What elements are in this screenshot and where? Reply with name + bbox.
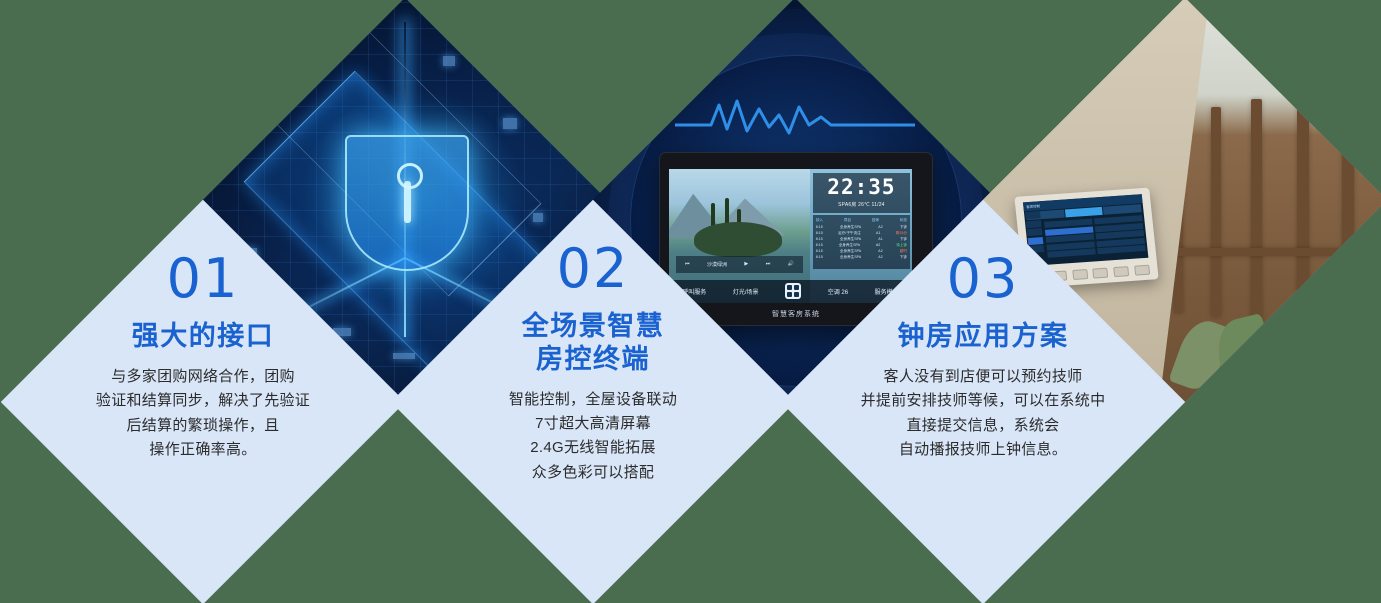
home-hub-icon[interactable] xyxy=(785,283,801,299)
panel-list-right[interactable] xyxy=(1094,215,1146,254)
mountain-shape-2 xyxy=(711,195,784,235)
card-title: 全场景智慧 房控终端 xyxy=(522,310,665,376)
desc-line: 后结算的繁琐操作，且 xyxy=(96,414,310,438)
tree-2 xyxy=(725,198,729,246)
cell-tech: A2 xyxy=(878,254,882,260)
clock-time: 22:35 xyxy=(827,177,895,198)
wood-slat-3 xyxy=(1251,99,1262,325)
desc-line: 与多家团购网络合作，团购 xyxy=(96,365,310,389)
card-title-line: 房控终端 xyxy=(522,343,665,376)
wood-slat-2 xyxy=(1211,107,1221,317)
desc-line: 直接提交信息，系统会 xyxy=(861,414,1106,438)
media-next-icon[interactable]: ⏭ xyxy=(766,261,771,267)
side-item-4[interactable] xyxy=(1028,236,1044,244)
side-item-1[interactable] xyxy=(1025,211,1041,219)
ecg-waveform-icon xyxy=(675,95,915,139)
tree-3 xyxy=(737,209,741,244)
desc-line: 2.4G无线智能拓展 xyxy=(509,436,677,460)
card-title: 强大的接口 xyxy=(132,320,275,353)
wood-slat-4 xyxy=(1297,95,1309,329)
toolbar-air-conditioner[interactable]: 空调 26 xyxy=(828,287,848,296)
panel-list-left[interactable] xyxy=(1044,218,1096,257)
card-number: 02 xyxy=(557,242,630,296)
toolbar-lighting[interactable]: 灯光/场景 xyxy=(733,287,759,296)
desc-line: 并提前安排技师等候，可以在系统中 xyxy=(861,389,1106,413)
desc-line: 自动播报技师上钟信息。 xyxy=(861,438,1106,462)
circuit-chip-7 xyxy=(393,353,415,359)
clock-widget: 22:35 SPA6房 26℃ 11/24 xyxy=(813,173,910,213)
panel-button-4[interactable] xyxy=(1093,267,1109,278)
card-number: 03 xyxy=(947,252,1020,306)
circuit-chip-3 xyxy=(503,118,517,129)
desc-line: 验证和结算同步，解决了先验证 xyxy=(96,389,310,413)
circuit-chip-6 xyxy=(443,56,455,66)
clock-room: SPA6房 xyxy=(838,202,856,208)
panel-button-6[interactable] xyxy=(1135,265,1151,276)
clock-date: 11/24 xyxy=(872,202,885,208)
side-item-2[interactable] xyxy=(1026,220,1042,228)
media-player-widget[interactable]: ⏮ 沙漠绿洲 ▶ ⏭ 🔊 xyxy=(676,256,802,273)
card-description: 智能控制，全屋设备联动 7寸超大高清屏幕 2.4G无线智能拓展 众多色彩可以搭配 xyxy=(509,388,677,485)
media-title: 沙漠绿洲 xyxy=(707,261,727,268)
desc-line: 操作正确率高。 xyxy=(96,438,310,462)
bottom-toolbar[interactable]: 呼叫服务 灯光/场景 空调 26 服务模式 xyxy=(669,280,912,303)
media-play-icon[interactable]: ▶ xyxy=(744,261,748,267)
shield-lock-icon xyxy=(345,135,469,271)
plant-leaf-3 xyxy=(1260,327,1317,398)
tree-1 xyxy=(711,203,715,246)
cell-status: 下钟 xyxy=(900,254,907,260)
circuit-chip-4 xyxy=(533,213,543,222)
mountain-shape xyxy=(669,190,728,238)
media-prev-icon[interactable]: ⏮ xyxy=(685,261,690,267)
cell-item: 全身养生SPA xyxy=(840,254,861,260)
card-title-line: 钟房应用方案 xyxy=(898,320,1069,353)
panel-title: 客房控制 xyxy=(1026,203,1040,209)
service-schedule-table: 钟入 项目 技师 状态 8:15 全身养生SPA A2 下钟 8:15 xyxy=(813,215,910,269)
panel-screen[interactable]: 客房控制 xyxy=(1023,194,1148,266)
card-description: 与多家团购网络合作，团购 验证和结算同步，解决了先验证 后结算的繁琐操作，且 操… xyxy=(96,365,310,462)
panel-button-5[interactable] xyxy=(1114,266,1130,277)
desc-line: 7寸超大高清屏幕 xyxy=(509,412,677,436)
media-volume-icon[interactable]: 🔊 xyxy=(788,261,794,267)
desc-line: 客人没有到店便可以预约技师 xyxy=(861,365,1106,389)
panel-lists[interactable] xyxy=(1042,213,1148,260)
side-item-3[interactable] xyxy=(1027,228,1043,236)
diamond-feature-board: 22:35 SPA6房 26℃ 11/24 钟入 项目 技师 状态 xyxy=(0,0,1381,603)
table-row: 8:15 全身养生SPA A2 下钟 xyxy=(816,254,907,260)
card-description: 客人没有到店便可以预约技师 并提前安排技师等候，可以在系统中 直接提交信息，系统… xyxy=(861,365,1106,462)
wood-slat-5 xyxy=(1342,91,1354,333)
panel-button-3[interactable] xyxy=(1072,269,1088,280)
clock-temp: 26℃ xyxy=(858,202,870,208)
tablet-screen[interactable]: 22:35 SPA6房 26℃ 11/24 钟入 项目 技师 状态 xyxy=(669,169,912,303)
card-title-line: 全场景智慧 xyxy=(522,310,665,343)
card-number: 01 xyxy=(167,252,240,306)
card-title: 钟房应用方案 xyxy=(898,320,1069,353)
card-title-line: 强大的接口 xyxy=(132,320,275,353)
wood-rail xyxy=(1161,248,1381,256)
desc-line: 众多色彩可以搭配 xyxy=(509,461,677,485)
cell-time: 8:15 xyxy=(816,254,823,260)
desc-line: 智能控制，全屋设备联动 xyxy=(509,388,677,412)
